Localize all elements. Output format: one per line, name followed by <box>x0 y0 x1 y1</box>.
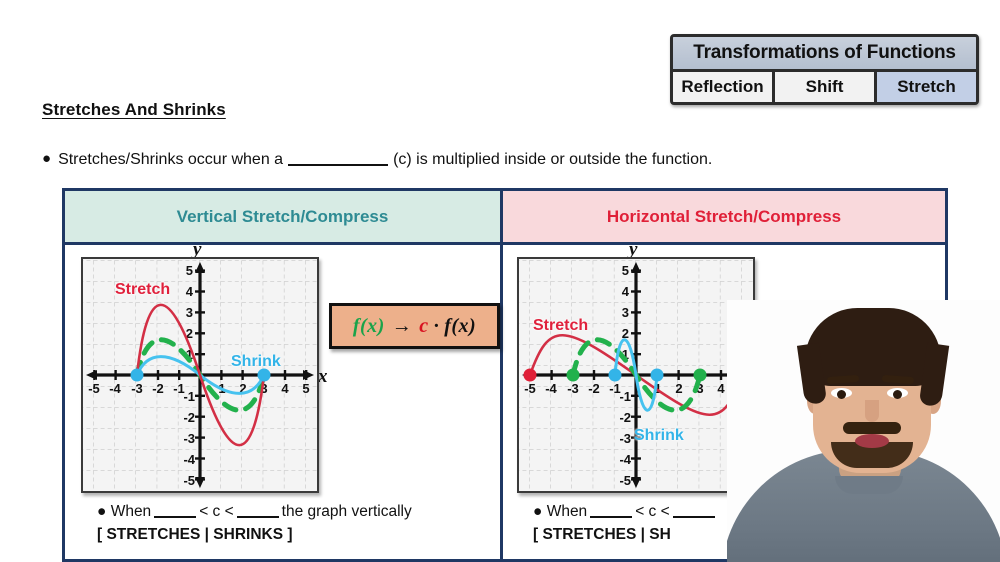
note-mid: < c < <box>635 503 669 520</box>
presenter-hair <box>805 308 941 386</box>
svg-text:-2: -2 <box>619 410 631 425</box>
presenter-mouth <box>855 434 889 448</box>
formula-c-red: c <box>419 315 428 338</box>
svg-text:-2: -2 <box>152 381 164 396</box>
vertical-choices[interactable]: [ STRETCHES | SHRINKS ] <box>97 526 293 543</box>
lead-text-part1: Stretches/Shrinks occur when a <box>58 151 283 168</box>
formula-fx: f(x) <box>444 315 476 338</box>
presenter-moustache <box>843 422 901 434</box>
svg-text:-1: -1 <box>183 389 195 404</box>
svg-text:-2: -2 <box>588 381 600 396</box>
horizontal-blank-upper[interactable] <box>673 502 715 518</box>
presenter-pupil-left <box>837 390 846 399</box>
svg-text:4: 4 <box>717 381 725 396</box>
svg-text:2: 2 <box>675 381 682 396</box>
svg-text:-3: -3 <box>567 381 579 396</box>
svg-text:-4: -4 <box>109 381 121 396</box>
note-marker: ● <box>533 503 542 520</box>
svg-text:5: 5 <box>186 263 193 278</box>
svg-text:-1: -1 <box>619 389 631 404</box>
formula-arrow: → <box>392 315 413 338</box>
svg-text:-4: -4 <box>619 452 631 467</box>
vertical-stretch-svg: -5-4 -3-2 -1 12 34 5 54 32 1 -1-2 <box>83 259 317 491</box>
horizontal-stretch-svg: -5-4 -3-2 -1 12 34 5 54 32 1 -1-2 <box>519 259 753 491</box>
formula-dot: · <box>434 315 440 338</box>
vertical-blank-lower[interactable] <box>154 502 196 518</box>
vertical-note: ● When< c <the graph vertically [ STRETC… <box>97 500 412 546</box>
svg-text:4: 4 <box>622 284 630 299</box>
svg-text:-5: -5 <box>619 473 631 488</box>
presenter-webcam-overlay <box>727 300 1000 562</box>
horizontal-choices[interactable]: [ STRETCHES | SH <box>533 526 671 543</box>
column-header-horizontal: Horizontal Stretch/Compress <box>503 191 945 242</box>
svg-text:-4: -4 <box>545 381 557 396</box>
lead-text-part2: (c) is multiplied inside or outside the … <box>393 151 712 168</box>
formula-fx-green: f(x) <box>353 315 385 338</box>
vertical-transform-formula: f(x) → c · f(x) <box>329 303 500 349</box>
note-pre: When <box>111 503 152 520</box>
vertical-stretch-graph: -5-4 -3-2 -1 12 34 5 54 32 1 -1-2 <box>81 257 319 493</box>
svg-text:-3: -3 <box>131 381 143 396</box>
slide-canvas: Transformations of Functions Reflection … <box>0 0 1000 562</box>
lead-bullet: ●Stretches/Shrinks occur when a(c) is mu… <box>42 150 712 169</box>
left-graph-x-axis-label: x <box>318 366 328 388</box>
note-post: the graph vertically <box>282 503 412 520</box>
transformations-row: Reflection Shift Stretch <box>673 72 976 102</box>
legend-cell-stretch[interactable]: Stretch <box>877 72 976 102</box>
presenter-nose <box>865 400 879 422</box>
svg-text:4: 4 <box>281 381 289 396</box>
svg-text:-2: -2 <box>183 410 195 425</box>
presenter-shirt-collar <box>835 476 903 494</box>
legend-cell-reflection[interactable]: Reflection <box>673 72 775 102</box>
svg-text:-5: -5 <box>183 473 195 488</box>
svg-text:3: 3 <box>622 305 629 320</box>
column-header-vertical: Vertical Stretch/Compress <box>65 191 503 242</box>
svg-text:-4: -4 <box>183 452 195 467</box>
horizontal-note: ● When< c < [ STRETCHES | SH <box>533 500 718 546</box>
svg-text:3: 3 <box>186 305 193 320</box>
transformations-legend-box: Transformations of Functions Reflection … <box>670 34 979 105</box>
fill-in-blank-1[interactable] <box>288 150 388 166</box>
horizontal-stretch-graph: -5-4 -3-2 -1 12 34 5 54 32 1 -1-2 <box>517 257 755 493</box>
svg-text:4: 4 <box>186 284 194 299</box>
note-marker: ● <box>97 503 106 520</box>
svg-text:5: 5 <box>302 381 309 396</box>
svg-text:-3: -3 <box>183 431 195 446</box>
table-header-row: Vertical Stretch/Compress Horizontal Str… <box>65 191 945 245</box>
bullet-marker: ● <box>42 150 51 167</box>
svg-text:5: 5 <box>622 263 629 278</box>
table-cell-vertical: y x <box>65 245 503 562</box>
note-mid: < c < <box>199 503 233 520</box>
svg-text:-3: -3 <box>619 431 631 446</box>
svg-text:-5: -5 <box>524 381 536 396</box>
presenter-pupil-right <box>893 390 902 399</box>
note-pre: When <box>547 503 588 520</box>
horizontal-blank-lower[interactable] <box>590 502 632 518</box>
svg-text:-5: -5 <box>88 381 100 396</box>
legend-cell-shift[interactable]: Shift <box>775 72 877 102</box>
vertical-blank-upper[interactable] <box>237 502 279 518</box>
page-title: Stretches And Shrinks <box>42 100 226 120</box>
transformations-title: Transformations of Functions <box>673 37 976 72</box>
